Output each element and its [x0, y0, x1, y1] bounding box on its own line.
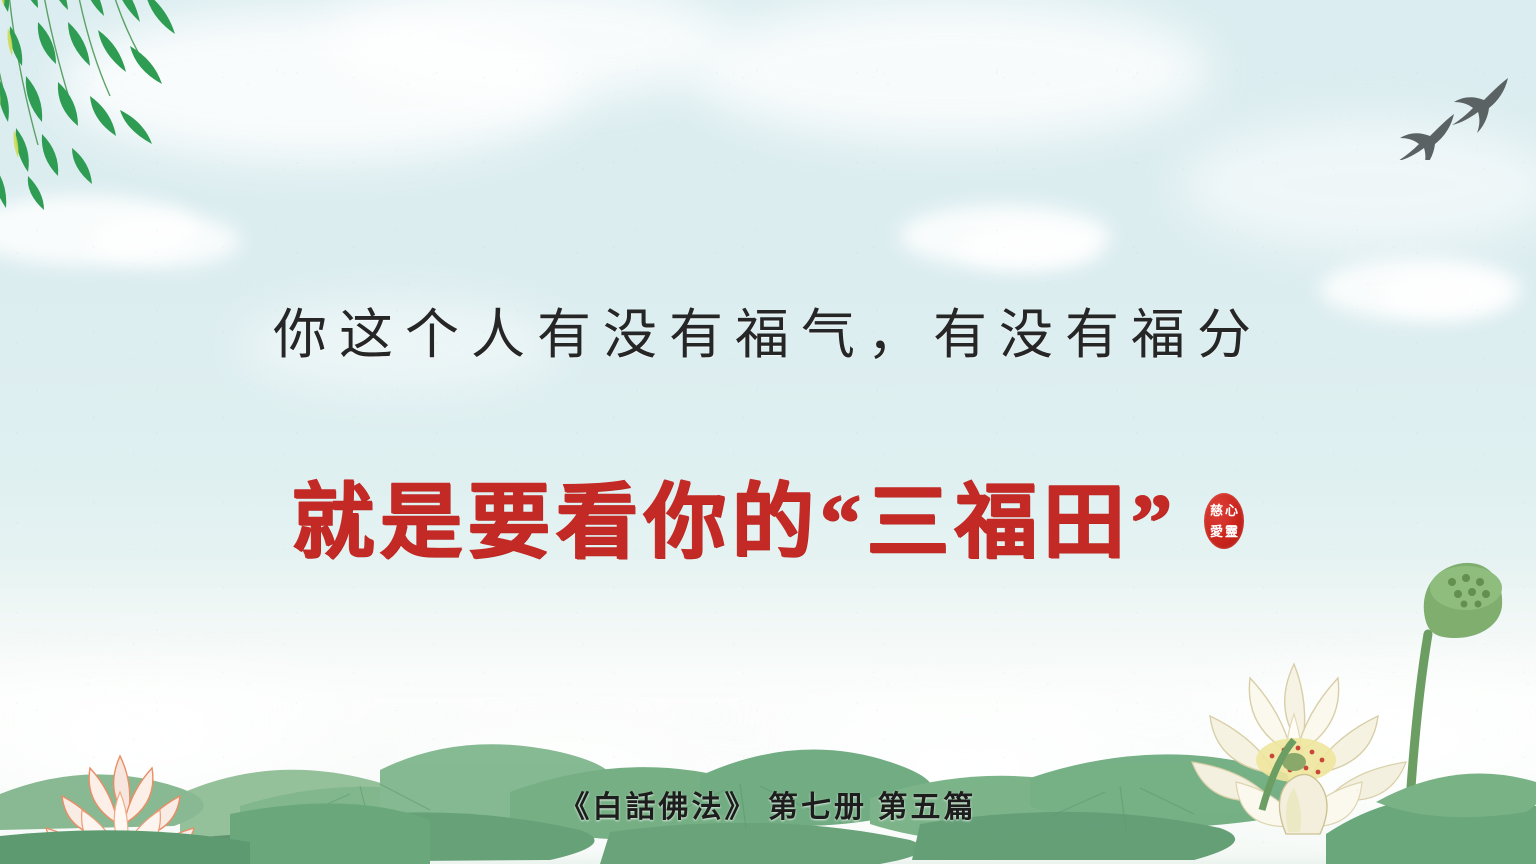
- willow-branches-icon: [0, 0, 270, 210]
- cloud-icon: [0, 195, 200, 265]
- seal-char: 靈: [1224, 521, 1239, 542]
- cloud-cluster-icon: [60, 10, 580, 160]
- source-caption: 《白話佛法》 第七册 第五篇: [0, 782, 1536, 826]
- cloud-cluster-icon: [1180, 120, 1536, 250]
- emphasis-row: 就是要看你的“三福田” 慈 心 愛 靈: [0, 455, 1536, 574]
- cloud-icon: [960, 225, 1100, 269]
- cloud-cluster-icon: [330, 0, 730, 100]
- cloud-icon: [90, 215, 240, 267]
- seal-char: 心: [1224, 500, 1239, 521]
- headline-text: 你这个人有没有福气，有没有福分: [0, 290, 1536, 369]
- slide-canvas: 你这个人有没有福气，有没有福分 就是要看你的“三福田” 慈 心 愛 靈 《白話佛…: [0, 0, 1536, 864]
- cloud-icon: [900, 205, 1110, 267]
- red-oval-seal: 慈 心 愛 靈: [1204, 493, 1244, 549]
- seal-char: 慈: [1209, 500, 1224, 521]
- emphasis-text: 就是要看你的“三福田”: [292, 455, 1178, 574]
- swallow-birds-icon: [1390, 70, 1530, 160]
- seal-char: 愛: [1209, 521, 1224, 542]
- cloud-cluster-icon: [690, 0, 1210, 140]
- seal-character-grid: 慈 心 愛 靈: [1209, 500, 1239, 542]
